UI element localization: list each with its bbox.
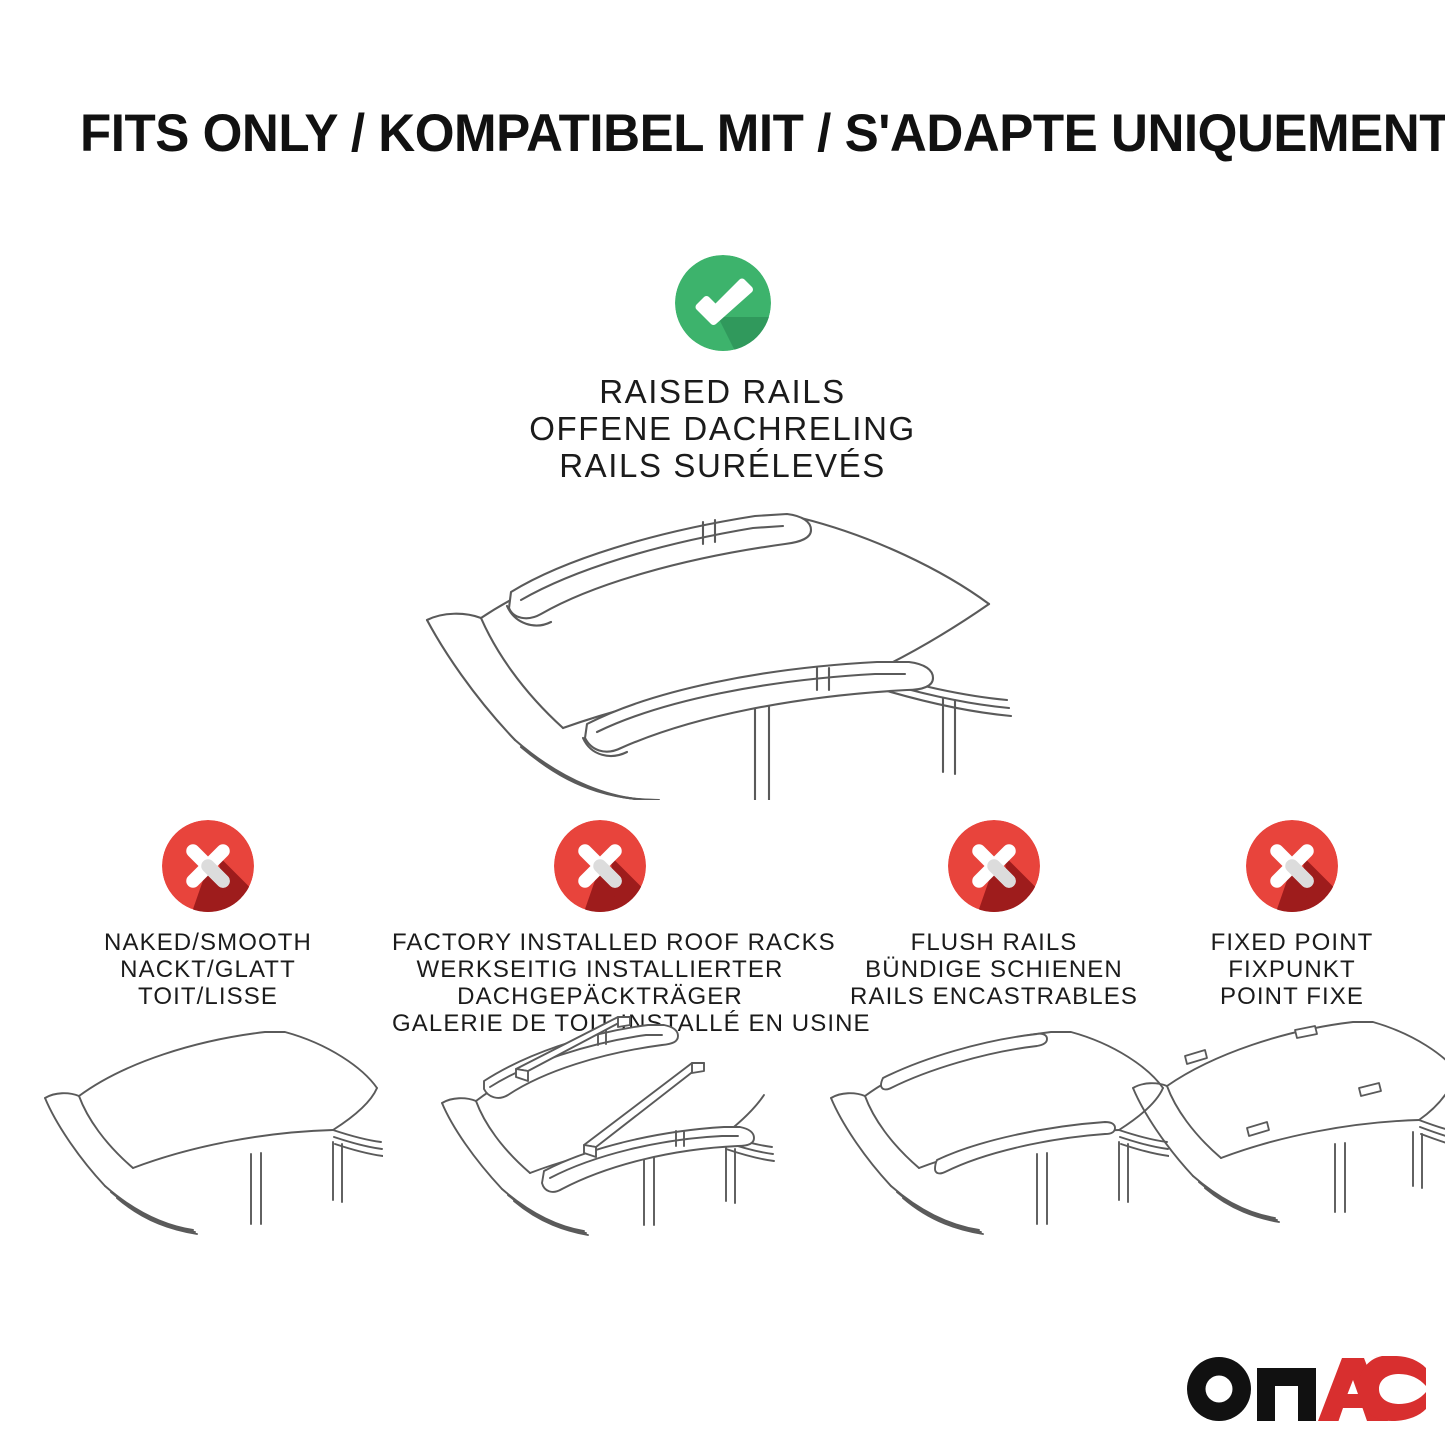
compatible-label-de: OFFENE DACHRELING: [0, 410, 1445, 447]
incompatible-block-factory-roof-racks: FACTORY INSTALLED ROOF RACKS WERKSEITIG …: [392, 820, 808, 1037]
factory-roof-racks-label-en: FACTORY INSTALLED ROOF RACKS: [392, 929, 808, 956]
flush-rails-labels: FLUSH RAILS BÜNDIGE SCHIENEN RAILS ENCAS…: [818, 929, 1170, 1010]
check-circle-svg: [675, 255, 771, 351]
omac-logo-svg: [1186, 1356, 1426, 1422]
car-roof-with-flush-rails-illustration: [819, 1016, 1169, 1246]
cross-circle-icon: [162, 820, 254, 912]
fixed-point-label-en: FIXED POINT: [1152, 929, 1432, 956]
compatible-label-fr: RAILS SURÉLEVÉS: [0, 447, 1445, 484]
cross-circle-svg: [1246, 820, 1338, 912]
logo-letter-o: [1187, 1357, 1251, 1421]
cross-circle-svg: [948, 820, 1040, 912]
flush-rails-label-de: BÜNDIGE SCHIENEN: [818, 956, 1170, 983]
naked-smooth-labels: NAKED/SMOOTH NACKT/GLATT TOIT/LISSE: [24, 929, 392, 1010]
incompatible-block-flush-rails: FLUSH RAILS BÜNDIGE SCHIENEN RAILS ENCAS…: [818, 820, 1170, 1010]
fixed-point-label-fr: POINT FIXE: [1152, 983, 1432, 1010]
compatible-block: RAISED RAILS OFFENE DACHRELING RAILS SUR…: [0, 255, 1445, 484]
car-roof-with-fixed-points-illustration: [1127, 1010, 1445, 1245]
car-roof-bare-illustration: [33, 1016, 383, 1246]
naked-smooth-label-en: NAKED/SMOOTH: [24, 929, 392, 956]
check-circle-icon: [675, 255, 771, 351]
car-roof-with-factory-crossbars-illustration: [420, 1005, 780, 1245]
naked-smooth-label-de: NACKT/GLATT: [24, 956, 392, 983]
infographic-page: FITS ONLY / KOMPATIBEL MIT / S'ADAPTE UN…: [0, 0, 1445, 1445]
page-title: FITS ONLY / KOMPATIBEL MIT / S'ADAPTE UN…: [80, 104, 1335, 164]
cross-circle-svg: [554, 820, 646, 912]
omac-logo: [1186, 1356, 1426, 1422]
factory-roof-racks-label-de-1: WERKSEITIG INSTALLIERTER: [392, 956, 808, 983]
cross-circle-icon: [1246, 820, 1338, 912]
incompatible-block-fixed-point: FIXED POINT FIXPUNKT POINT FIXE: [1152, 820, 1432, 1010]
compatible-labels: RAISED RAILS OFFENE DACHRELING RAILS SUR…: [0, 373, 1445, 484]
cross-circle-svg: [162, 820, 254, 912]
logo-letter-c: [1358, 1356, 1426, 1421]
incompatible-block-naked-smooth: NAKED/SMOOTH NACKT/GLATT TOIT/LISSE: [24, 820, 392, 1010]
naked-smooth-label-fr: TOIT/LISSE: [24, 983, 392, 1010]
flush-rails-label-en: FLUSH RAILS: [818, 929, 1170, 956]
cross-circle-icon: [948, 820, 1040, 912]
compatible-label-en: RAISED RAILS: [0, 373, 1445, 410]
flush-rails-label-fr: RAILS ENCASTRABLES: [818, 983, 1170, 1010]
fixed-point-labels: FIXED POINT FIXPUNKT POINT FIXE: [1152, 929, 1432, 1010]
car-roof-with-raised-rails-illustration: [403, 500, 1043, 800]
logo-letter-m: [1257, 1368, 1316, 1421]
fixed-point-label-de: FIXPUNKT: [1152, 956, 1432, 983]
cross-circle-icon: [554, 820, 646, 912]
